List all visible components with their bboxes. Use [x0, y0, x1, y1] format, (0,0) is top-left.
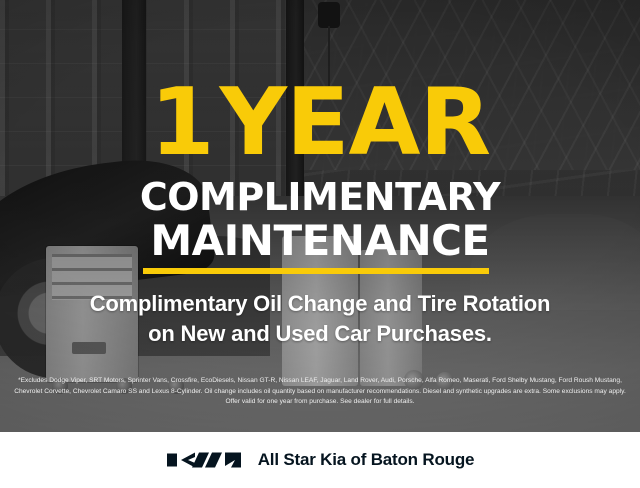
headline-complimentary: COMPLIMENTARY: [0, 176, 640, 218]
kia-logo-icon: [166, 449, 242, 471]
hero-text-stack: 1YEAR COMPLIMENTARY MAINTENANCE Complime…: [0, 0, 640, 432]
subheadline: Complimentary Oil Change and Tire Rotati…: [20, 289, 620, 349]
headline-maintenance: MAINTENANCE: [0, 218, 640, 264]
headline-year: 1YEAR: [0, 76, 640, 169]
yellow-divider-rule: [143, 268, 489, 274]
headline-year-word: YEAR: [220, 68, 490, 176]
subheadline-line-2: on New and Used Car Purchases.: [20, 319, 620, 349]
dealer-name: All Star Kia of Baton Rouge: [258, 450, 475, 470]
disclaimer-text: *Excludes Dodge Viper, SRT Motors, Sprin…: [14, 376, 626, 408]
hero-section: 1YEAR COMPLIMENTARY MAINTENANCE Complime…: [0, 0, 640, 432]
subheadline-line-1: Complimentary Oil Change and Tire Rotati…: [20, 289, 620, 319]
promotional-banner: 1YEAR COMPLIMENTARY MAINTENANCE Complime…: [0, 0, 640, 488]
footer-bar: All Star Kia of Baton Rouge: [0, 432, 640, 488]
headline-year-number: 1: [150, 68, 214, 176]
